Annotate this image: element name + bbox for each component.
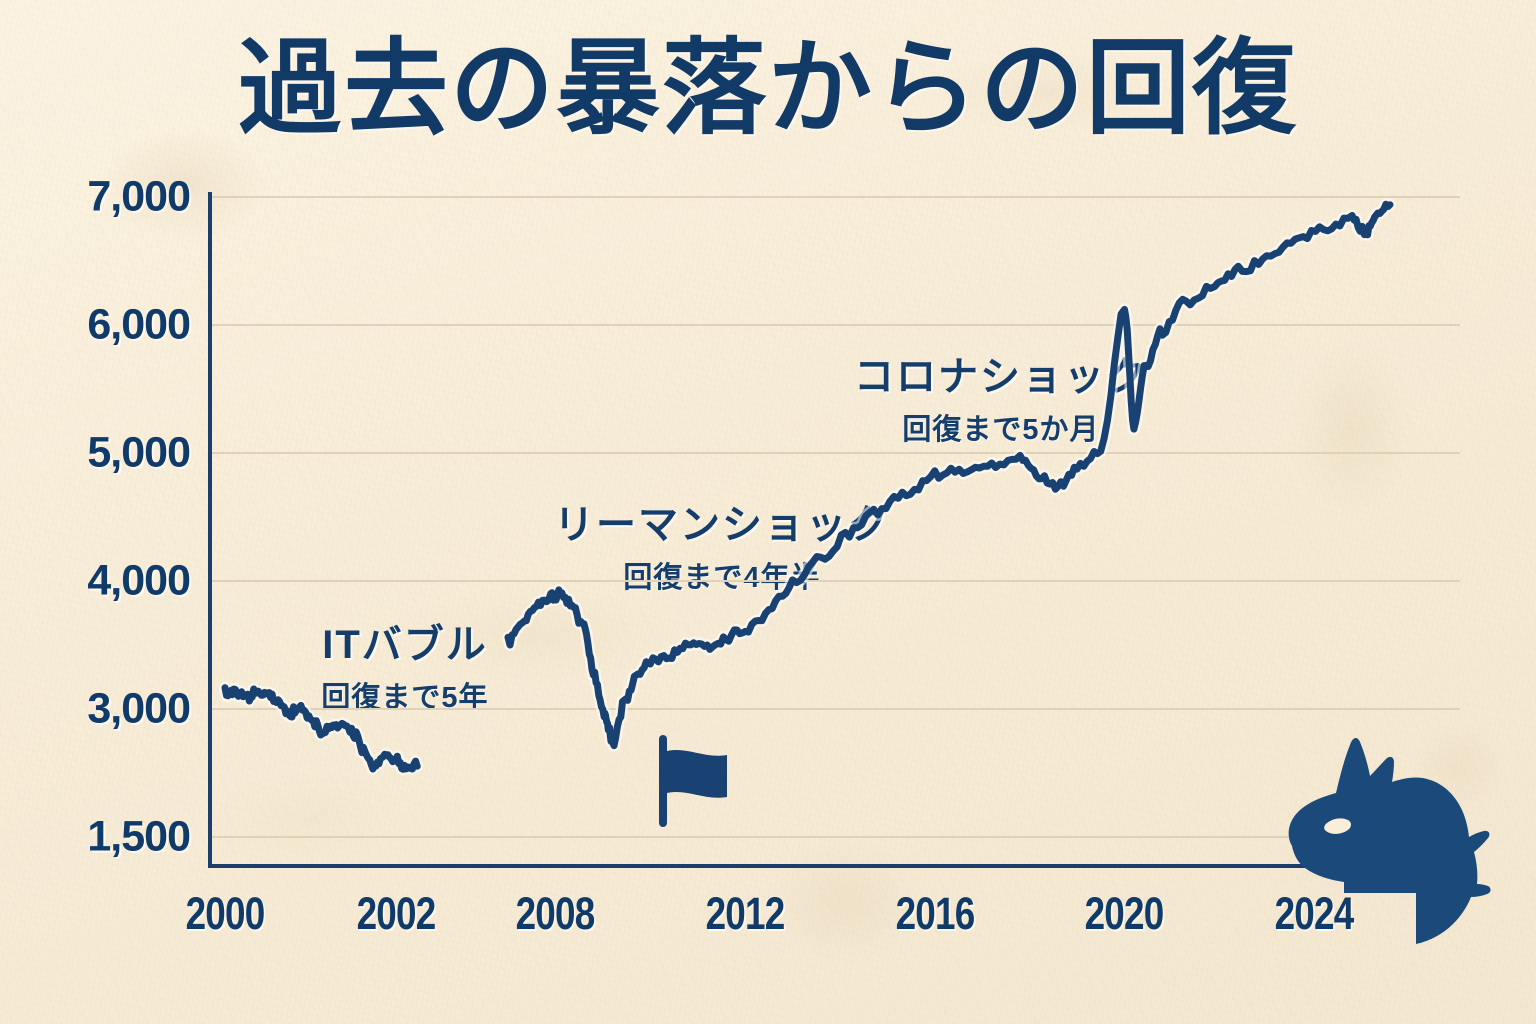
chart-canvas: 過去の暴落からの回復 1,5003,0004,0005,0006,0007,00…: [0, 0, 1536, 1024]
line-chart-plot: [0, 0, 1536, 1024]
flag-banner: [663, 750, 727, 798]
series-line: [225, 688, 417, 770]
gridlines: [210, 197, 1460, 837]
marker-layer: [659, 735, 727, 827]
data-series-layer: [225, 204, 1390, 769]
flag-icon: [659, 735, 727, 827]
